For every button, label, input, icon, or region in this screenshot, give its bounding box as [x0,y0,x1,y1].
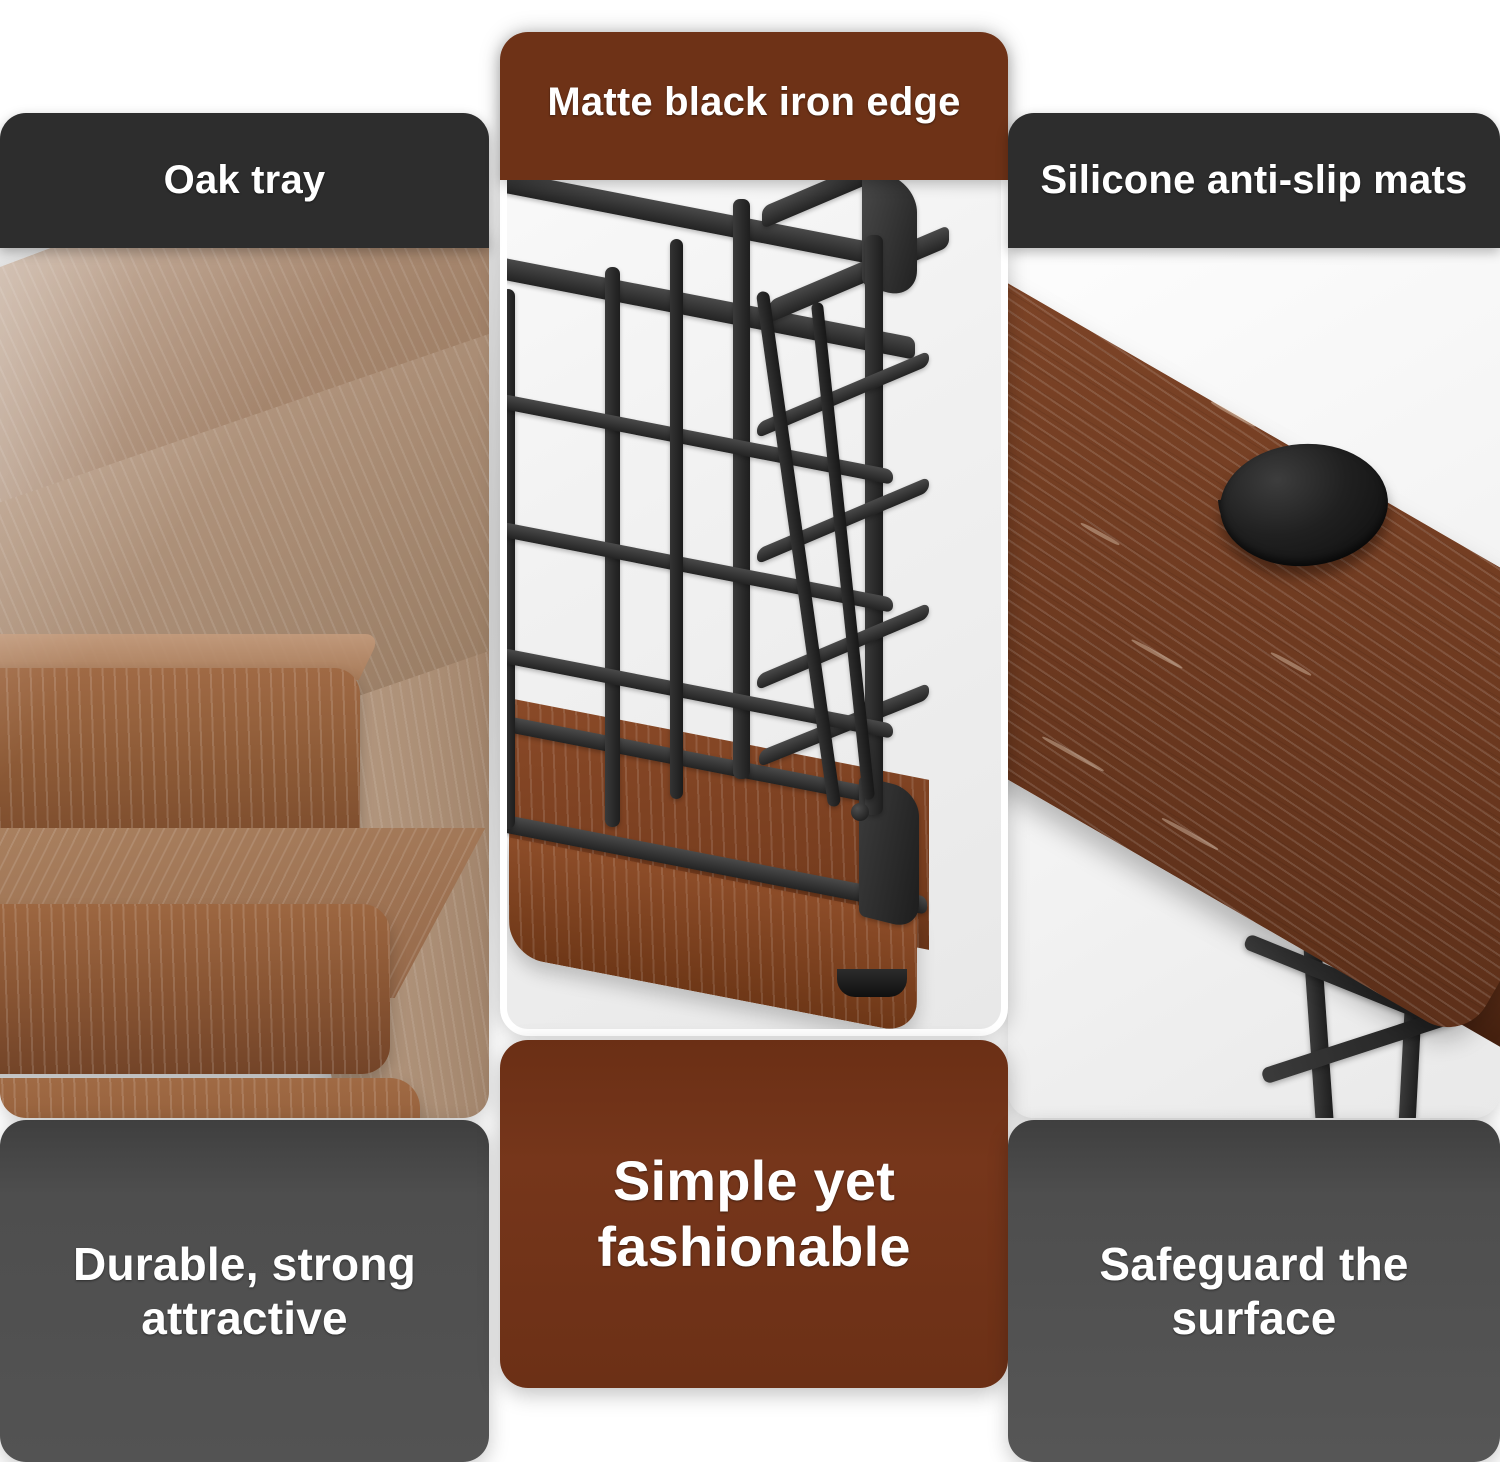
panel-footer-label: Safeguard the surface [1042,1237,1466,1346]
photo-iron-cage-background [507,39,1001,1029]
iron-vertical-post-far-left [501,289,515,829]
iron-cross-bar-2 [500,520,893,613]
photo-silicone-anti-slip-mats [1008,232,1500,1118]
panel-header-silicone-anti-slip-mats: Silicone anti-slip mats [1008,113,1500,248]
panel-header-label: Oak tray [164,157,326,204]
panel-footer-label: Durable, strong attractive [34,1237,455,1346]
iron-inner-post-c [670,239,683,799]
assembly-screw [851,803,869,821]
base-foot-pad [837,969,907,997]
iron-vertical-post-center [733,199,750,779]
walnut-shelf-surface [1008,251,1500,1043]
panel-footer-durable-strong-attractive: Durable, strong attractive [0,1120,489,1462]
product-feature-collage: Oak tray Durable, strong attractive [0,0,1500,1462]
photo-matte-black-iron-edge [500,32,1008,1036]
oak-photo-gloss-overlay [0,232,489,1118]
photo-oak-tray-background [0,232,489,1118]
panel-footer-simple-yet-fashionable: Simple yet fashionable [500,1040,1008,1388]
photo-oak-tray [0,232,489,1118]
photo-silicone-pad-background [1008,232,1500,1118]
panel-footer-label: Simple yet fashionable [536,1148,972,1280]
panel-footer-safeguard-the-surface: Safeguard the surface [1008,1120,1500,1462]
panel-header-label: Silicone anti-slip mats [1041,157,1468,204]
panel-header-oak-tray: Oak tray [0,113,489,248]
panel-header-label: Matte black iron edge [547,79,960,126]
panel-header-matte-black-iron-edge: Matte black iron edge [500,32,1008,180]
